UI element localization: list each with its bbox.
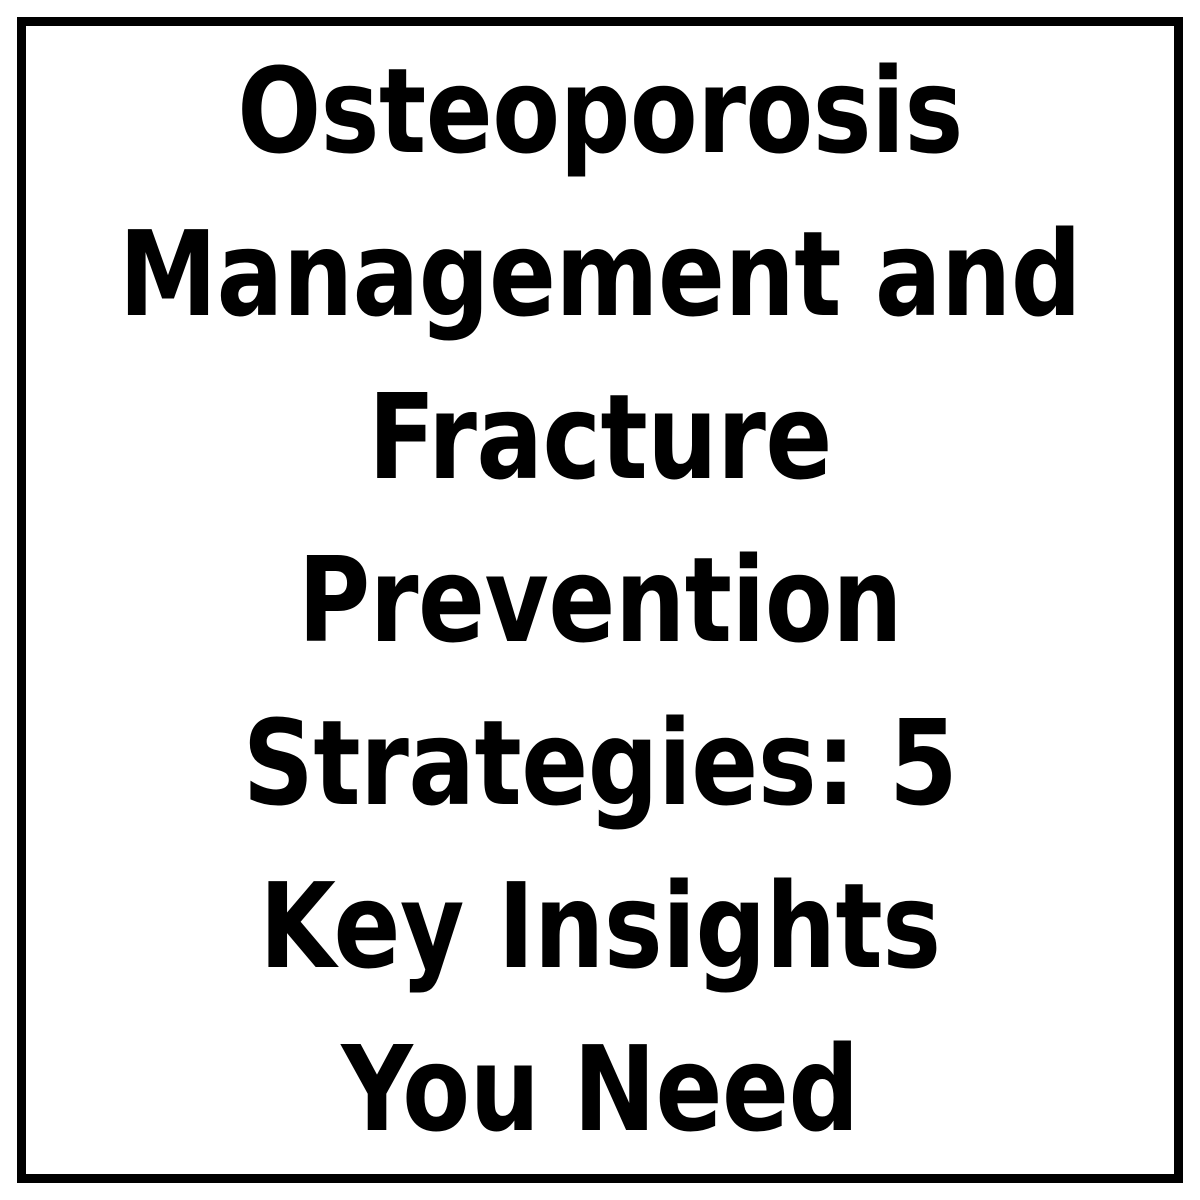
poster-canvas: Osteoporosis Management and Fracture Pre… <box>0 0 1200 1200</box>
title-block: Osteoporosis Management and Fracture Pre… <box>26 26 1174 1174</box>
page-title: Osteoporosis Management and Fracture Pre… <box>74 30 1127 1171</box>
poster-border-frame: Osteoporosis Management and Fracture Pre… <box>17 17 1183 1183</box>
